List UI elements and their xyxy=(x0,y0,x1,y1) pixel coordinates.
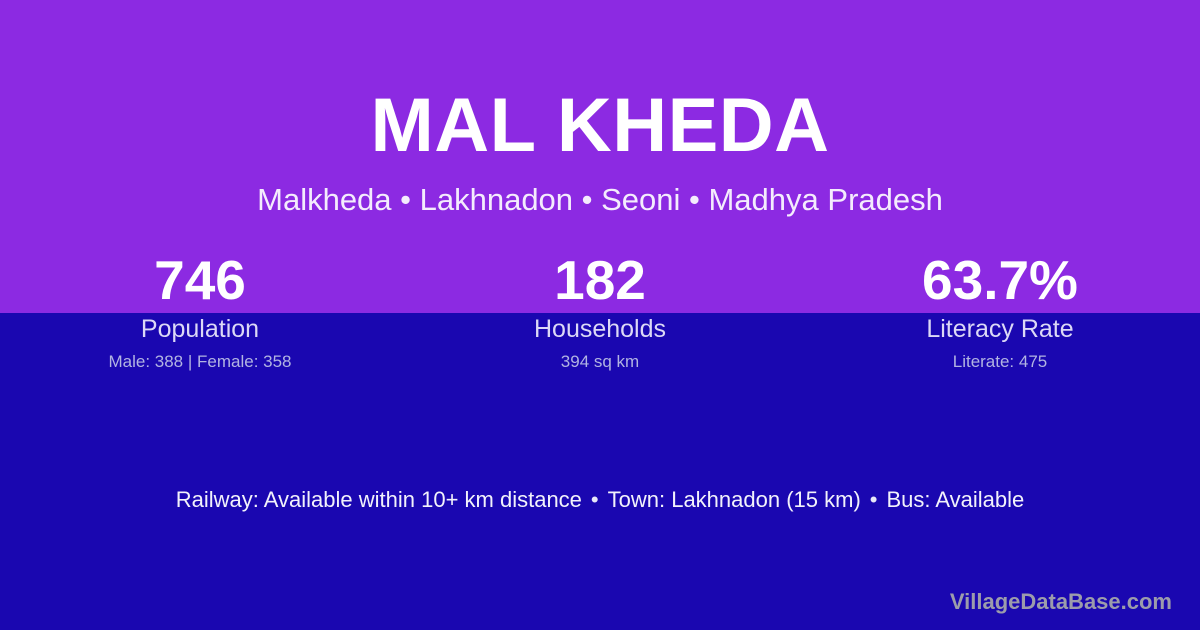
stat-literacy-rate: 63.7% Literacy Rate Literate: 475 xyxy=(800,248,1200,372)
stat-households-label: Households xyxy=(400,314,800,344)
stat-population-value: 746 xyxy=(0,248,400,312)
stat-literacy-rate-value: 63.7% xyxy=(800,248,1200,312)
infra-railway: Railway: Available within 10+ km distanc… xyxy=(176,487,582,512)
stat-literacy-rate-label: Literacy Rate xyxy=(800,314,1200,344)
stat-households: 182 Households 394 sq km xyxy=(400,248,800,372)
page-title: MAL KHEDA xyxy=(0,84,1200,168)
stats-row: 746 Population Male: 388 | Female: 358 1… xyxy=(0,248,1200,372)
village-info-card: MAL KHEDA Malkheda • Lakhnadon • Seoni •… xyxy=(0,0,1200,630)
infra-town: Town: Lakhnadon (15 km) xyxy=(608,487,861,512)
infra-bus: Bus: Available xyxy=(886,487,1024,512)
stat-households-value: 182 xyxy=(400,248,800,312)
stat-population: 746 Population Male: 388 | Female: 358 xyxy=(0,248,400,372)
infra-separator-1: • xyxy=(582,485,608,515)
infra-separator-2: • xyxy=(861,485,887,515)
breadcrumb: Malkheda • Lakhnadon • Seoni • Madhya Pr… xyxy=(0,181,1200,219)
stat-population-label: Population xyxy=(0,314,400,344)
stat-literacy-rate-sub: Literate: 475 xyxy=(800,352,1200,372)
site-branding: VillageDataBase.com xyxy=(950,588,1172,616)
stat-population-sub: Male: 388 | Female: 358 xyxy=(0,352,400,372)
stat-households-sub: 394 sq km xyxy=(400,352,800,372)
infrastructure-line: Railway: Available within 10+ km distanc… xyxy=(0,485,1200,515)
